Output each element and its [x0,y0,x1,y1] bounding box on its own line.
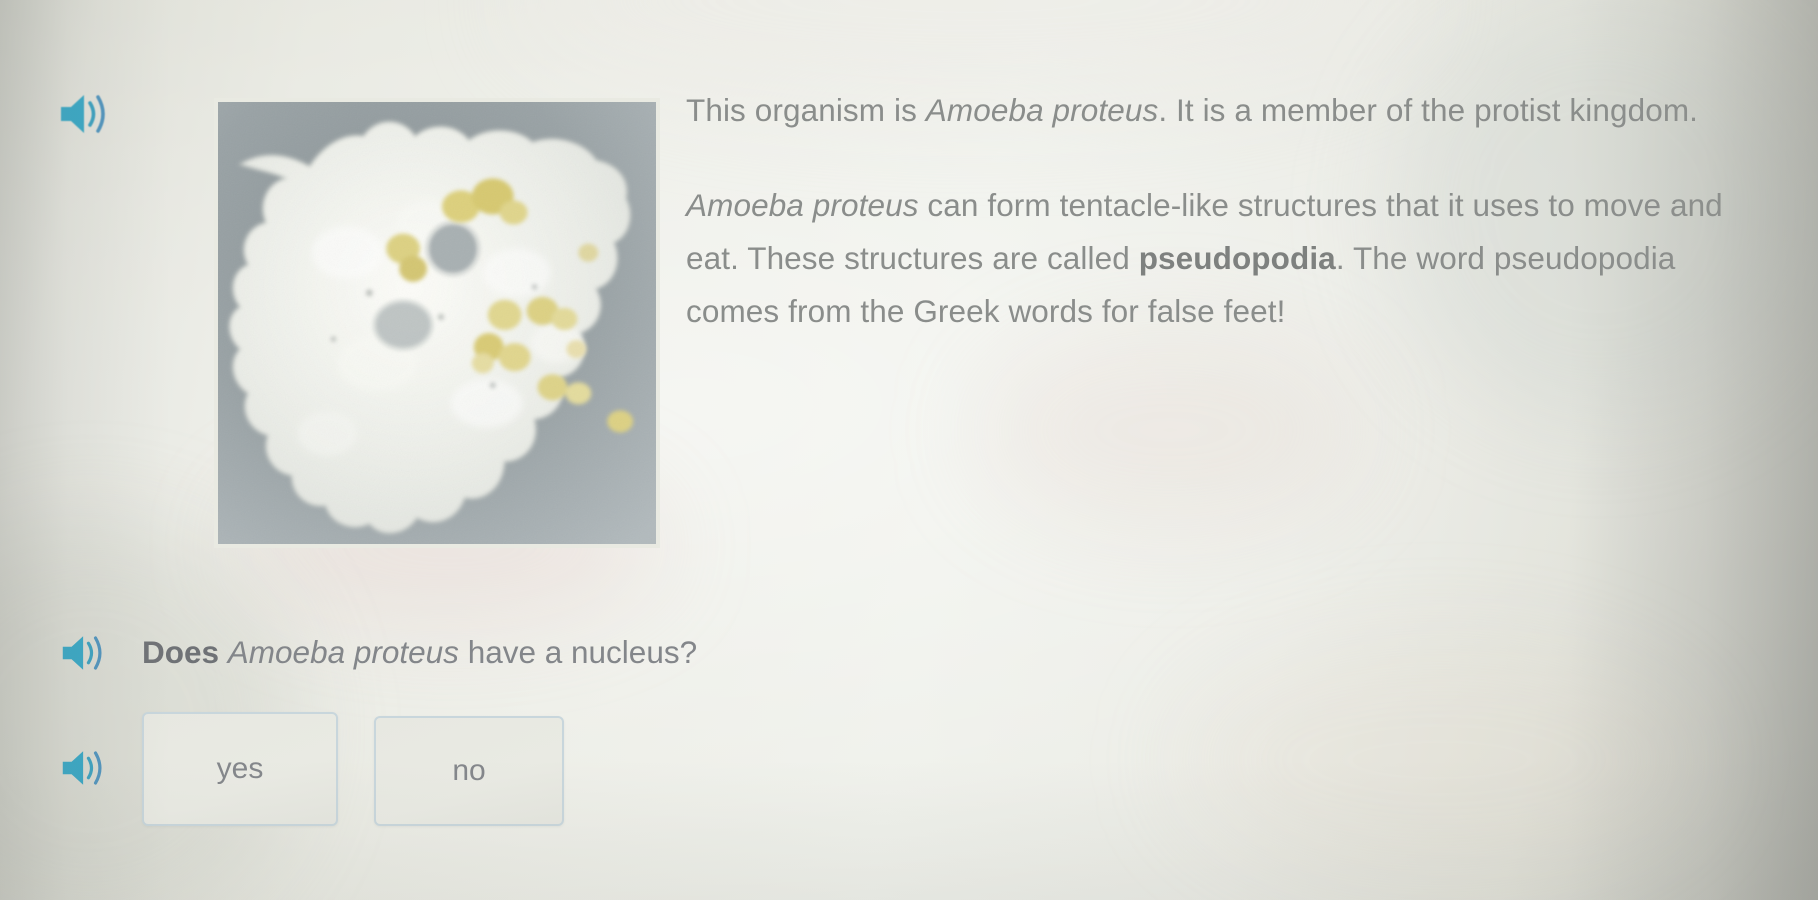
photo-colorcast [0,520,300,900]
quiz-page: This organism is Amoeba proteus. It is a… [0,0,1818,900]
passage-part-bold: pseudopodia [1139,240,1336,276]
read-aloud-answers-button[interactable] [58,745,110,796]
question-lead: Does [142,634,228,670]
speaker-icon [58,630,110,676]
read-aloud-question-button[interactable] [58,630,110,681]
passage-paragraph-2: Amoeba proteus can form tentacle-like st… [686,179,1746,338]
passage-part-italic: Amoeba proteus [686,187,919,223]
passage-part: This organism is [686,92,926,128]
passage-text: This organism is Amoeba proteus. It is a… [686,84,1746,338]
answer-options: yes no [142,712,564,826]
answer-option-yes[interactable]: yes [142,712,338,826]
question-trail: have a nucleus? [459,634,697,670]
answer-option-no[interactable]: no [374,716,564,826]
speaker-icon [56,88,114,140]
speaker-icon [58,745,110,791]
photo-colorcast [1180,640,1700,880]
organism-figure [214,98,660,548]
passage-part-italic: Amoeba proteus [926,92,1159,128]
photo-colorcast [980,330,1360,530]
passage-paragraph-1: This organism is Amoeba proteus. It is a… [686,84,1746,137]
read-aloud-passage-button[interactable] [56,88,114,140]
amoeba-proteus-micrograph [218,102,656,544]
question-organism: Amoeba proteus [228,634,459,670]
question-prompt: Does Amoeba proteus have a nucleus? [142,631,697,673]
passage-part: . It is a member of the protist kingdom. [1158,92,1698,128]
